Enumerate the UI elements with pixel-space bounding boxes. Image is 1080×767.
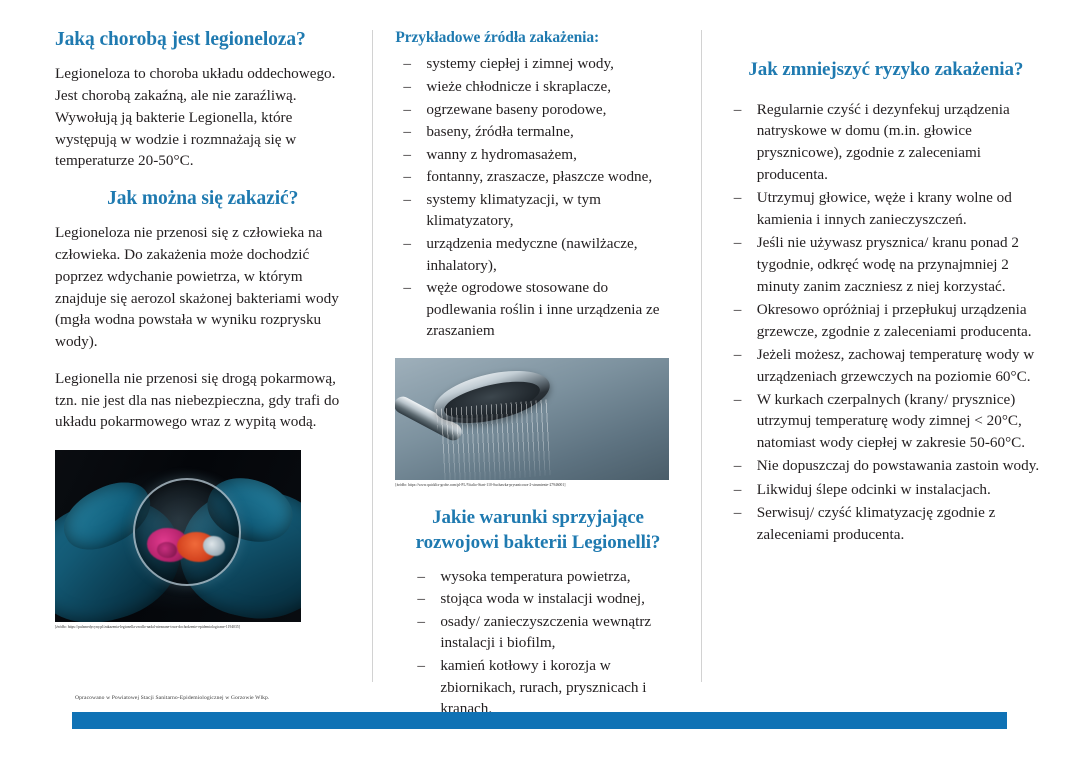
growth-conditions-list: wysoka temperatura powietrza, stojąca wo… [395,566,680,720]
example-sources-list: systemy ciepłej i zimnej wody, wieże chł… [395,53,680,342]
list-item: Serwisuj/ czyść klimatyzację zgodnie z z… [732,502,1040,545]
showerhead-figure: [źródło: https://www.quicklix-grohe.com/… [395,358,680,488]
recommendations-list: Regularnie czyść i dezynfekuj urządzenia… [732,99,1040,546]
left-paragraph-digestive: Legionella nie przenosi się drogą pokarm… [55,368,350,433]
left-paragraph-transmission: Legioneloza nie przenosi się z człowieka… [55,222,350,352]
petri-dish-caption: [źródło: https://pulsmedycyny.pl/zakazen… [55,625,350,630]
showerhead-caption: [źródło: https://www.quicklix-grohe.com/… [395,483,680,488]
right-heading-reduce-risk: Jak zmniejszyć ryzyko zakażenia? [732,58,1040,83]
brochure-page: Jaką chorobą jest legioneloza? Legionelo… [0,0,1080,767]
list-item: Jeśli nie używasz prysznica/ kranu ponad… [732,232,1040,297]
bacteria-colony-white [203,536,225,556]
list-item: Utrzymuj głowice, węże i krany wolne od … [732,187,1040,230]
middle-heading-example-sources: Przykładowe źródła zakażenia: [395,28,680,47]
bacteria-colony-pink [157,542,177,558]
right-column: Jak zmniejszyć ryzyko zakażenia? Regular… [702,28,1040,547]
list-item: fontanny, zraszacze, płaszcze wodne, [395,166,680,188]
list-item: Okresowo opróżniaj i przepłukuj urządzen… [732,299,1040,342]
list-item: systemy ciepłej i zimnej wody, [395,53,680,75]
list-item: W kurkach czerpalnych (krany/ prysznice)… [732,389,1040,454]
list-item: baseny, źródła termalne, [395,121,680,143]
list-item: ogrzewane baseny porodowe, [395,99,680,121]
left-heading-how-to-get-infected: Jak można się zakazić? [55,187,350,211]
list-item: wysoka temperatura powietrza, [395,566,680,588]
petri-dish-figure: [źródło: https://pulsmedycyny.pl/zakazen… [55,450,350,630]
middle-column: Przykładowe źródła zakażenia: systemy ci… [373,28,700,721]
list-item: Regularnie czyść i dezynfekuj urządzenia… [732,99,1040,186]
list-item: osady/ zanieczyszczenia wewnątrz instala… [395,611,680,654]
petri-dish-icon [133,478,241,586]
list-item: stojąca woda w instalacji wodnej, [395,588,680,610]
left-column: Jaką chorobą jest legioneloza? Legionelo… [55,28,372,630]
left-paragraph-definition: Legioneloza to choroba układu oddechoweg… [55,63,350,172]
list-item: systemy klimatyzacji, w tym klimatyzator… [395,189,680,232]
petri-dish-photo [55,450,301,622]
list-item: Likwiduj ślepe odcinki w instalacjach. [732,479,1040,501]
list-item: Jeżeli możesz, zachowaj temperaturę wody… [732,344,1040,387]
showerhead-photo [395,358,669,480]
left-heading-what-is-legionellosis: Jaką chorobą jest legioneloza? [55,28,350,52]
list-item: kamień kotłowy i korozja w zbiornikach, … [395,655,680,720]
list-item: węże ogrodowe stosowane do podlewania ro… [395,277,680,342]
footer-attribution: Opracowano w Powiatowej Stacji Sanitarno… [75,695,269,701]
list-item: Nie dopuszczaj do powstawania zastoin wo… [732,455,1040,477]
water-stream-icon [436,399,554,480]
middle-heading-growth-conditions: Jakie warunki sprzyjające rozwojowi bakt… [395,506,680,555]
footer-bar [72,712,1007,729]
list-item: wanny z hydromasażem, [395,144,680,166]
three-column-layout: Jaką chorobą jest legioneloza? Legionelo… [55,28,1040,683]
list-item: wieże chłodnicze i skraplacze, [395,76,680,98]
list-item: urządzenia medyczne (nawilżacze, inhalat… [395,233,680,276]
